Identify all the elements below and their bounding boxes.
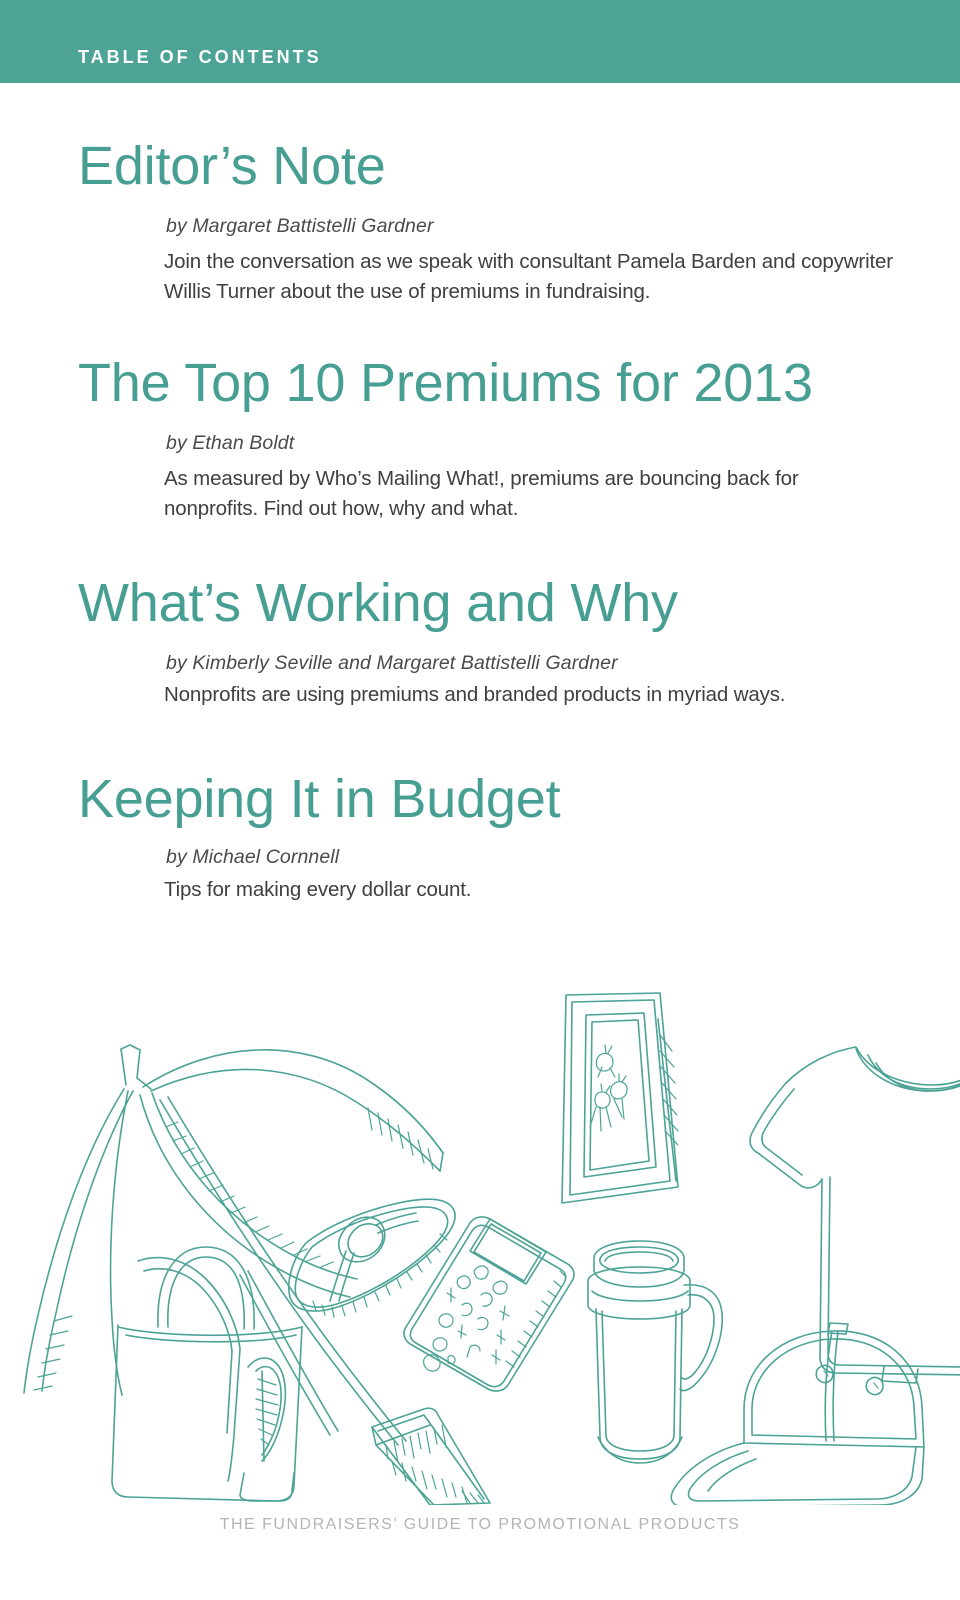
toc-entry-title[interactable]: Keeping It in Budget <box>78 771 560 827</box>
toc-entry-byline: by Kimberly Seville and Margaret Battist… <box>166 651 618 675</box>
ruler-icon <box>372 1408 490 1505</box>
footer-tagline: THE FUNDRAISERS’ GUIDE TO PROMOTIONAL PR… <box>0 1516 960 1534</box>
toc-entry-title[interactable]: Editor’s Note <box>78 138 386 194</box>
toc-entry-description: As measured by Who’s Mailing What!, prem… <box>164 464 894 524</box>
tote-bag-icon <box>112 1247 302 1501</box>
toc-entry-title[interactable]: What’s Working and Why <box>78 575 678 631</box>
travel-mug-icon <box>588 1241 722 1463</box>
promotional-products-illustration <box>0 975 960 1505</box>
baseball-cap-icon <box>671 1323 924 1505</box>
toc-entry-byline: by Ethan Boldt <box>166 431 294 455</box>
toc-entry-description: Join the conversation as we speak with c… <box>164 247 894 307</box>
toc-entry-byline: by Margaret Battistelli Gardner <box>166 214 434 238</box>
calculator-icon <box>404 1217 574 1391</box>
picture-frame-icon <box>562 993 678 1203</box>
toc-entry-title[interactable]: The Top 10 Premiums for 2013 <box>78 355 813 411</box>
toc-entry-description: Nonprofits are using premiums and brande… <box>164 680 894 710</box>
toc-entry-description: Tips for making every dollar count. <box>164 875 894 905</box>
toc-entry-byline: by Michael Cornnell <box>166 845 339 869</box>
page-title: TABLE OF CONTENTS <box>78 48 322 66</box>
page-header-bar: TABLE OF CONTENTS <box>0 0 960 83</box>
